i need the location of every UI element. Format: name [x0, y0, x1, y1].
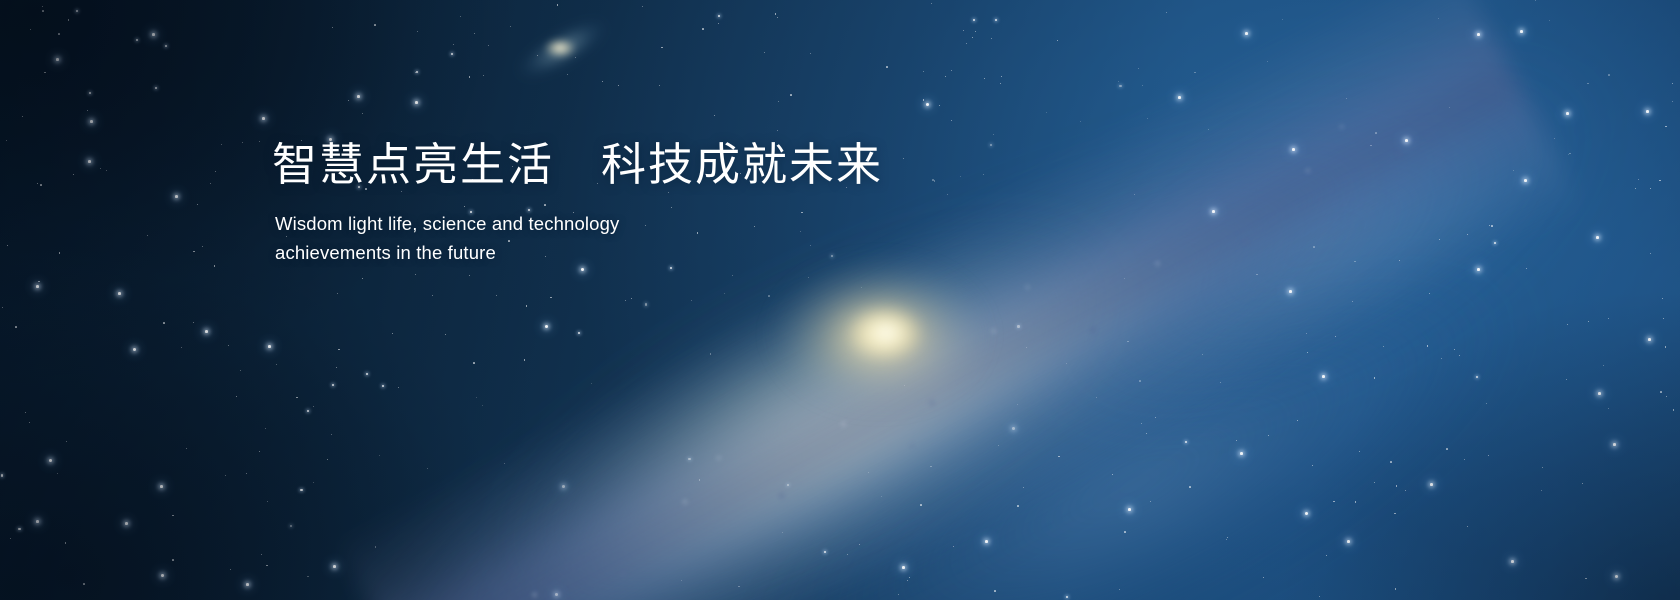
star — [778, 101, 779, 102]
star — [49, 459, 52, 462]
star — [362, 278, 363, 279]
star — [262, 117, 265, 120]
star — [483, 75, 484, 76]
main-galaxy — [0, 0, 1680, 600]
star — [1395, 588, 1397, 590]
star — [868, 472, 869, 473]
star — [985, 540, 988, 543]
star — [242, 142, 243, 143]
star — [1134, 194, 1135, 195]
star — [1650, 253, 1651, 254]
star — [975, 31, 976, 32]
star — [1526, 268, 1527, 269]
star — [1142, 85, 1143, 86]
star — [1359, 451, 1360, 452]
star — [392, 333, 393, 334]
star — [163, 322, 165, 324]
galaxy-halo — [49, 0, 1680, 600]
star — [939, 105, 941, 107]
star — [415, 72, 416, 73]
star — [1535, 0, 1536, 1]
star — [1613, 443, 1616, 446]
galaxy-outer-arm — [917, 0, 1680, 571]
star — [374, 24, 376, 26]
star — [65, 542, 67, 544]
star — [555, 593, 558, 596]
star — [89, 92, 91, 94]
star — [1194, 72, 1196, 74]
star — [1355, 501, 1357, 503]
star — [1155, 417, 1156, 418]
star — [1608, 318, 1609, 319]
star — [688, 458, 690, 460]
star — [510, 26, 511, 27]
star — [118, 292, 121, 295]
star — [1026, 347, 1027, 348]
star — [362, 113, 363, 114]
galaxy-dust-texture — [337, 0, 1584, 600]
star — [1023, 487, 1024, 488]
star — [205, 330, 208, 333]
star — [1220, 382, 1221, 383]
star — [1374, 482, 1375, 483]
star — [575, 57, 576, 58]
star — [1666, 396, 1667, 397]
star — [578, 332, 580, 334]
star — [6, 140, 7, 141]
star — [1429, 293, 1430, 294]
star — [30, 29, 32, 31]
star — [68, 19, 70, 21]
star — [259, 451, 260, 452]
star — [1166, 12, 1167, 13]
star — [1663, 318, 1665, 320]
star — [416, 71, 418, 73]
star — [59, 252, 61, 254]
star — [1665, 126, 1667, 128]
star — [1405, 139, 1408, 142]
star — [1405, 490, 1406, 491]
star — [1491, 225, 1493, 227]
star — [172, 515, 174, 517]
star — [427, 468, 428, 469]
star — [37, 183, 39, 185]
star — [172, 559, 174, 561]
star — [382, 385, 384, 387]
star — [904, 385, 905, 386]
star — [1383, 346, 1384, 347]
star — [1554, 138, 1556, 140]
star — [1066, 596, 1068, 598]
star — [738, 586, 740, 588]
star — [710, 353, 712, 355]
star — [1476, 376, 1478, 378]
star — [1212, 210, 1215, 213]
galaxy-core-bulge — [760, 250, 1020, 430]
star — [951, 120, 952, 121]
galaxy-cream-glow — [421, 15, 1280, 600]
star — [488, 45, 489, 46]
star — [777, 130, 778, 131]
star — [1399, 260, 1400, 261]
star — [1454, 349, 1455, 350]
star — [618, 85, 619, 86]
star — [645, 303, 647, 305]
star — [332, 384, 334, 386]
star — [1608, 74, 1610, 76]
star — [1662, 298, 1663, 299]
star — [1467, 526, 1468, 527]
star — [1319, 596, 1320, 597]
star — [1147, 118, 1148, 119]
star — [920, 504, 922, 506]
star — [1427, 345, 1429, 347]
star — [1608, 408, 1609, 409]
star — [631, 298, 632, 299]
star — [15, 326, 17, 328]
star — [1001, 76, 1003, 78]
star — [1236, 440, 1237, 441]
star — [10, 538, 11, 539]
star — [106, 170, 107, 171]
star — [1150, 501, 1151, 502]
star — [1566, 112, 1569, 115]
star — [1673, 409, 1675, 411]
star — [337, 293, 338, 294]
star — [1307, 352, 1309, 354]
star — [526, 305, 528, 307]
star — [1665, 346, 1667, 348]
star — [336, 367, 337, 368]
star — [1648, 338, 1651, 341]
star — [661, 47, 663, 49]
star — [1127, 341, 1129, 343]
star — [66, 441, 67, 442]
star — [777, 17, 778, 18]
star — [25, 412, 26, 413]
star — [581, 268, 584, 271]
star — [764, 52, 765, 53]
star — [524, 359, 526, 361]
star — [1524, 179, 1527, 182]
star — [1477, 33, 1480, 36]
star — [907, 580, 908, 581]
star — [1449, 107, 1450, 108]
background-galaxy — [492, 6, 632, 92]
star — [1057, 40, 1058, 41]
star — [246, 473, 247, 474]
star — [1598, 392, 1601, 395]
star — [83, 583, 85, 585]
star — [473, 362, 475, 364]
star — [550, 297, 552, 299]
star — [2, 307, 3, 308]
star — [1240, 452, 1243, 455]
star — [1568, 154, 1569, 155]
star — [1585, 578, 1587, 580]
star — [1, 474, 3, 476]
star — [268, 345, 271, 348]
star — [22, 116, 23, 117]
star — [313, 482, 314, 483]
star — [36, 520, 39, 523]
star — [460, 16, 461, 17]
star — [782, 532, 783, 533]
star — [1582, 483, 1584, 485]
star — [193, 251, 195, 253]
star — [545, 325, 548, 328]
star — [909, 577, 910, 578]
star — [681, 580, 682, 581]
star — [1441, 358, 1442, 359]
star — [881, 496, 882, 497]
sky-background — [0, 0, 1680, 600]
star — [1282, 19, 1283, 20]
star — [973, 19, 975, 21]
star — [718, 15, 720, 17]
star — [333, 565, 336, 568]
star — [147, 235, 148, 236]
star — [42, 6, 43, 7]
star — [202, 246, 203, 247]
star — [1394, 513, 1396, 515]
star — [29, 422, 30, 423]
star — [1189, 486, 1191, 488]
star — [714, 115, 715, 116]
vignette-overlay — [0, 0, 1680, 600]
star — [221, 144, 222, 145]
star — [56, 58, 59, 61]
star — [898, 594, 899, 595]
star — [1638, 179, 1639, 180]
star — [1263, 577, 1264, 578]
star — [415, 101, 418, 104]
star — [451, 53, 453, 55]
star — [88, 160, 91, 163]
star — [824, 551, 826, 553]
star — [1118, 81, 1119, 82]
star — [193, 322, 194, 323]
star — [859, 544, 860, 545]
banner-subtitle: Wisdom light life, science and technolog… — [275, 209, 675, 267]
background-galaxy-halo — [480, 0, 644, 121]
star — [7, 245, 9, 247]
star — [557, 4, 559, 6]
star — [1354, 261, 1356, 263]
star — [338, 349, 340, 351]
star — [1017, 404, 1018, 405]
star — [567, 74, 568, 75]
star — [186, 448, 187, 449]
star — [476, 397, 477, 398]
star — [699, 479, 701, 481]
star — [1659, 180, 1661, 182]
star — [36, 285, 39, 288]
star — [1520, 30, 1523, 33]
star — [1635, 188, 1636, 189]
star — [1178, 96, 1181, 99]
star — [1000, 83, 1001, 84]
star — [1346, 98, 1347, 99]
star — [357, 95, 360, 98]
star — [469, 275, 470, 276]
star — [181, 347, 182, 348]
star — [995, 19, 997, 21]
star — [307, 576, 309, 578]
star — [276, 364, 277, 365]
star — [236, 396, 237, 397]
star — [1511, 560, 1514, 563]
star — [44, 72, 46, 74]
star — [1566, 379, 1567, 380]
background-galaxy-core — [540, 36, 580, 60]
star — [953, 546, 954, 547]
star — [38, 281, 40, 283]
star — [1541, 490, 1542, 491]
star — [100, 168, 101, 169]
star — [1489, 225, 1490, 226]
star — [332, 27, 333, 28]
star — [307, 410, 309, 412]
star — [886, 66, 888, 68]
star — [42, 10, 44, 12]
star — [261, 554, 262, 555]
star — [1542, 467, 1543, 468]
star — [1370, 145, 1372, 147]
star — [1268, 435, 1269, 436]
star — [1245, 32, 1248, 35]
star — [1292, 148, 1295, 151]
star — [1494, 242, 1496, 244]
star — [1467, 234, 1468, 235]
star — [1438, 18, 1439, 19]
star — [197, 204, 198, 205]
star — [951, 70, 952, 71]
star — [240, 370, 241, 371]
star — [1603, 365, 1604, 366]
star — [366, 373, 368, 375]
star — [1513, 170, 1514, 171]
star — [1322, 375, 1325, 378]
star — [1660, 391, 1662, 393]
star — [984, 78, 985, 79]
star — [496, 295, 497, 296]
galaxy-dust-lane — [333, 0, 1586, 600]
star — [847, 554, 848, 555]
star — [1567, 324, 1568, 325]
hero-banner: 智慧点亮生活 科技成就未来 Wisdom light life, science… — [0, 0, 1680, 600]
star — [1297, 420, 1299, 422]
star — [348, 100, 349, 101]
star — [445, 334, 446, 335]
star — [1124, 531, 1126, 533]
star — [1650, 188, 1652, 190]
star — [930, 466, 932, 468]
star — [160, 485, 163, 488]
star — [972, 37, 974, 39]
star — [702, 28, 704, 30]
star — [375, 546, 377, 548]
star — [1313, 246, 1315, 248]
star — [775, 13, 777, 15]
star — [161, 574, 164, 577]
star — [313, 406, 314, 407]
star — [453, 44, 454, 45]
star — [993, 134, 994, 135]
star — [1390, 461, 1392, 463]
star — [1128, 508, 1131, 511]
star — [1289, 290, 1292, 293]
star — [1615, 575, 1618, 578]
star — [230, 569, 231, 570]
star — [1333, 501, 1335, 503]
star — [432, 295, 433, 296]
star — [1430, 483, 1433, 486]
star — [469, 76, 471, 78]
star — [136, 39, 138, 41]
star — [1080, 121, 1081, 122]
star — [215, 171, 216, 172]
star — [966, 43, 967, 44]
star — [1138, 68, 1139, 69]
star — [1396, 485, 1398, 487]
star — [718, 23, 719, 24]
star — [175, 195, 178, 198]
star — [1202, 354, 1204, 356]
star — [1646, 110, 1649, 113]
star — [1058, 456, 1060, 458]
galaxy-disk — [251, 0, 1590, 600]
star — [537, 55, 538, 56]
star — [1464, 459, 1465, 460]
star — [1139, 380, 1141, 382]
star — [1017, 325, 1019, 327]
star — [1459, 355, 1460, 356]
star — [18, 528, 20, 530]
star — [625, 300, 626, 301]
star — [265, 428, 266, 429]
star — [296, 397, 298, 399]
sky-glow-overlay — [0, 0, 1680, 600]
star — [266, 565, 268, 567]
star — [133, 348, 136, 351]
star — [724, 293, 725, 294]
star — [155, 87, 157, 89]
banner-subtitle-line-2: achievements in the future — [275, 238, 675, 267]
star — [732, 275, 734, 277]
star — [790, 94, 792, 96]
star — [1305, 512, 1308, 515]
star — [1141, 423, 1142, 424]
star — [768, 295, 770, 297]
star — [1335, 336, 1336, 337]
star — [57, 473, 58, 474]
star — [1486, 403, 1487, 404]
star — [562, 485, 565, 488]
star — [902, 566, 905, 569]
star — [1587, 83, 1589, 85]
star — [331, 434, 332, 435]
star — [73, 174, 75, 176]
star — [1672, 101, 1673, 102]
star — [945, 76, 946, 77]
banner-subtitle-line-1: Wisdom light life, science and technolog… — [275, 209, 675, 238]
star — [1185, 441, 1187, 443]
star — [417, 31, 418, 32]
galaxy-core-hotspot — [840, 300, 932, 366]
star — [210, 183, 211, 184]
banner-headline: 智慧点亮生活 科技成就未来 — [272, 138, 1092, 191]
